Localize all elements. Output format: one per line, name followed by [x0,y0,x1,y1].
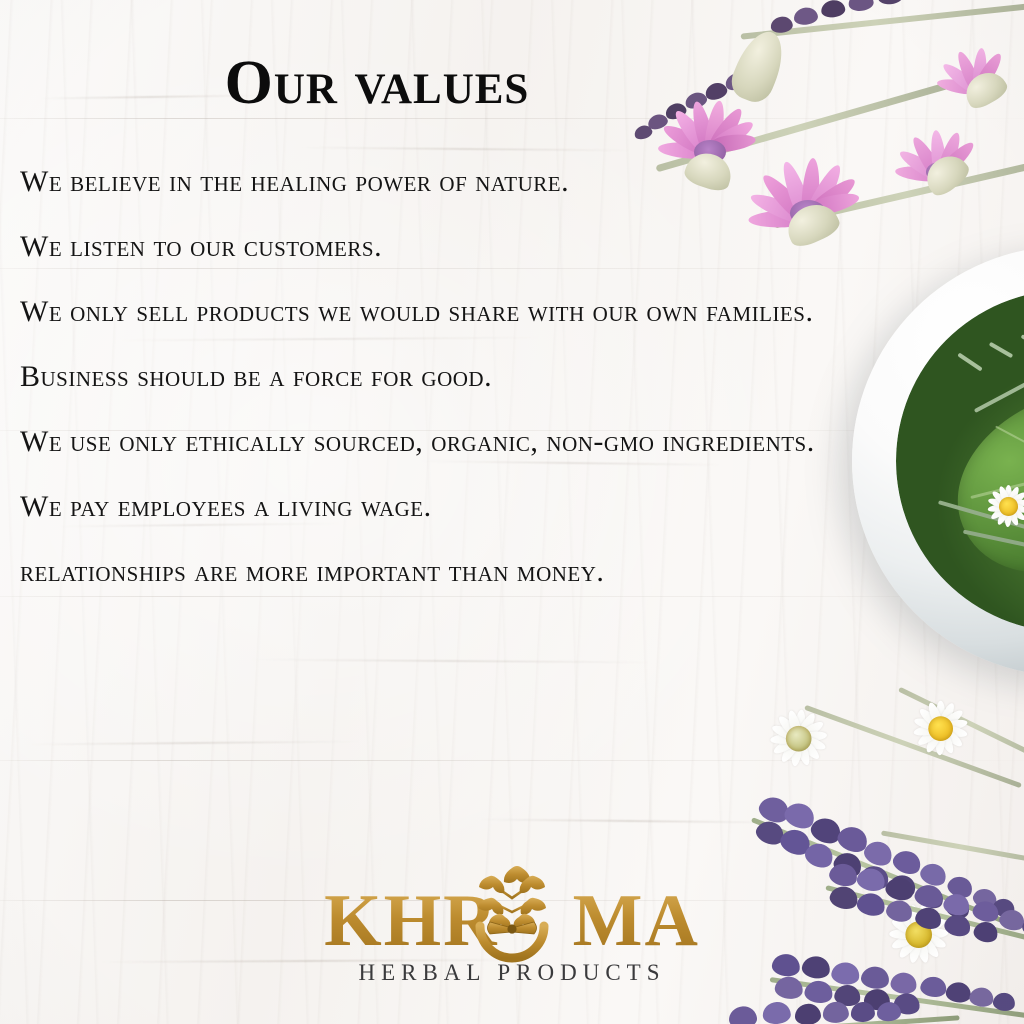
value-item: We listen to our customers. [20,227,820,266]
value-item: We pay employees a living wage. [20,487,820,526]
value-item: We only sell products we would share wit… [20,292,820,331]
values-list: We believe in the healing power of natur… [20,162,820,617]
brand-tagline: Herbal Products [324,960,700,986]
value-item: relationships are more important than mo… [20,552,820,591]
value-item: We use only ethically sourced, organic, … [20,422,820,461]
brand-word-part1: KHR [324,880,499,962]
brand-word-part2: MA [573,880,700,962]
page-title: Our values [0,52,1024,114]
value-item: We believe in the healing power of natur… [20,162,820,201]
value-item: Business should be a force for good. [20,357,820,396]
poster-canvas: Our values We believe in the healing pow… [0,0,1024,1024]
brand-wordmark: KHRMA [324,884,700,958]
bowl-contents [896,290,1024,632]
brand-logo: KHRMA [0,884,1024,986]
